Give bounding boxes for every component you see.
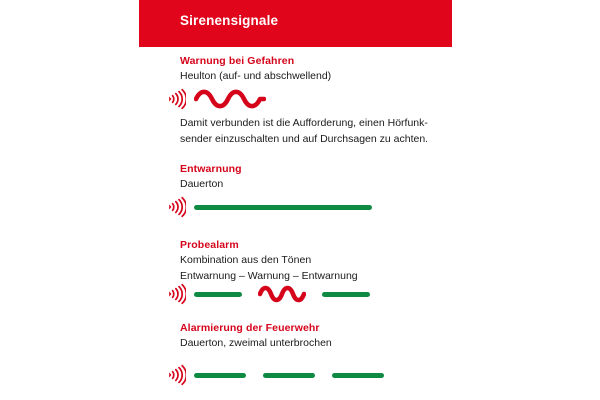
probealarm-wave-graphic [258, 283, 306, 305]
tone-segment-1 [194, 373, 246, 378]
section-subtitle-feuerwehr: Dauerton, zweimal unterbrochen [180, 336, 480, 351]
section-entwarnung: Entwarnung Dauerton [180, 163, 480, 192]
note-line-2: sender einzuschalten und auf Durchsagen … [180, 131, 440, 147]
section-title-feuerwehr: Alarmierung der Feuerwehr [180, 322, 480, 335]
tone-segment-continuous [194, 205, 372, 210]
section-title-entwarnung: Entwarnung [180, 163, 480, 176]
signal-row-feuerwehr [166, 362, 384, 388]
speaker-waves-icon [166, 364, 186, 386]
section-subtitle-probealarm: Kombination aus den Tönen [180, 253, 480, 268]
section-warnung: Warnung bei Gefahren Heulton (auf- und a… [180, 55, 480, 84]
speaker-waves-icon [166, 283, 186, 305]
section-subtitle-entwarnung: Dauerton [180, 177, 480, 192]
signal-row-warnung [166, 86, 266, 112]
speaker-waves-icon [166, 88, 186, 110]
header-banner: Sirenensignale [139, 0, 452, 47]
tone-segment-2 [263, 373, 315, 378]
section-title-warnung: Warnung bei Gefahren [180, 55, 480, 68]
signal-row-entwarnung [166, 194, 372, 220]
signal-row-probealarm [166, 281, 370, 307]
section-title-probealarm: Probealarm [180, 239, 480, 252]
tone-segment-entwarnung-1 [194, 292, 242, 297]
page-title: Sirenensignale [180, 13, 278, 28]
section-subtitle-warnung: Heulton (auf- und abschwellend) [180, 69, 480, 84]
section-feuerwehr: Alarmierung der Feuerwehr Dauerton, zwei… [180, 322, 480, 351]
tone-segment-entwarnung-2 [322, 292, 370, 297]
sirenensignale-infographic: Sirenensignale Warnung bei Gefahren Heul… [0, 0, 600, 400]
note-block-warnung: Damit verbunden ist die Aufforderung, ei… [180, 115, 440, 147]
speaker-waves-icon [166, 196, 186, 218]
tone-segment-3 [332, 373, 384, 378]
note-line-1: Damit verbunden ist die Aufforderung, ei… [180, 115, 440, 131]
section-probealarm: Probealarm Kombination aus den Tönen Ent… [180, 239, 480, 284]
warning-wave-graphic [194, 88, 266, 110]
